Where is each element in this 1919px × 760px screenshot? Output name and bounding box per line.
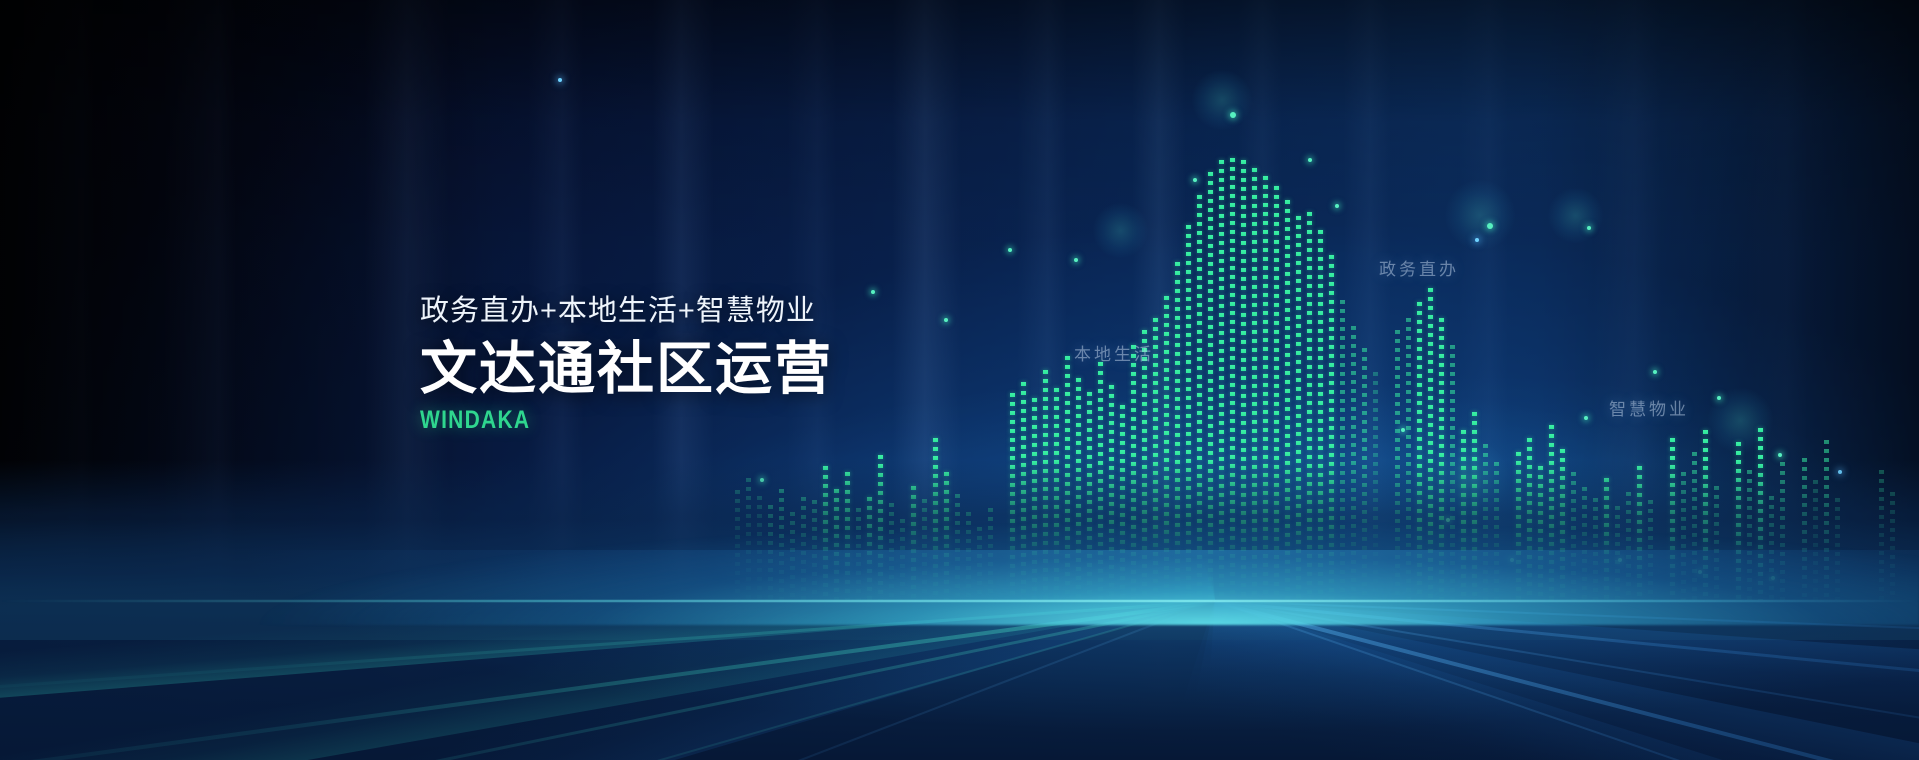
- soft-glow-halo: [1093, 203, 1148, 258]
- glow-particle: [558, 78, 562, 82]
- glow-particle: [944, 318, 948, 322]
- district-label: 本地生活: [1074, 340, 1154, 365]
- glow-particle: [1838, 470, 1842, 474]
- horizon-glow: [0, 495, 1919, 625]
- soft-glow-halo: [1192, 70, 1252, 130]
- hero-subheadline: 政务直办+本地生活+智慧物业: [420, 296, 833, 328]
- soft-glow-halo: [1548, 188, 1603, 243]
- particle-group: [0, 0, 1919, 760]
- glow-particle: [1308, 158, 1312, 162]
- district-label: 政务直办: [1379, 255, 1459, 280]
- sky-glow-overlay: [0, 0, 1919, 760]
- hero-headline: 文达通社区运营: [420, 340, 833, 400]
- glow-particle: [1584, 416, 1588, 420]
- soft-glow-halo: [1445, 180, 1515, 250]
- vertical-light-bands: [0, 0, 1919, 760]
- glow-particle: [1717, 396, 1721, 400]
- glow-particle: [1230, 112, 1236, 118]
- brand-wordmark: WINDAKA: [420, 408, 767, 433]
- glow-particle: [1778, 453, 1782, 457]
- dot-matrix-skyline: [0, 0, 1919, 760]
- glow-particle: [760, 478, 764, 482]
- glow-halo-group: [0, 0, 1919, 760]
- glow-particle: [1587, 226, 1591, 230]
- sky-background: [0, 0, 1919, 760]
- glow-particle: [1335, 204, 1339, 208]
- glow-particle: [871, 290, 875, 294]
- glow-particle: [1475, 238, 1479, 242]
- glow-particle: [1193, 178, 1197, 182]
- soft-glow-halo: [1708, 388, 1773, 453]
- glow-particle: [1487, 223, 1493, 229]
- glow-particle: [1074, 258, 1078, 262]
- glow-particle: [1008, 248, 1012, 252]
- district-label-group: 本地生活政务直办智慧物业: [0, 0, 1919, 760]
- edge-vignette: [0, 0, 1919, 760]
- glow-particle: [1401, 428, 1405, 432]
- glow-particle: [1653, 370, 1657, 374]
- hero-banner: 本地生活政务直办智慧物业 政务直办+本地生活+智慧物业 文达通社区运营 WIND…: [0, 0, 1919, 760]
- horizon-line: [0, 600, 1919, 602]
- hero-copy-block: 政务直办+本地生活+智慧物业 文达通社区运营 WINDAKA: [420, 296, 833, 433]
- district-label: 智慧物业: [1609, 395, 1689, 420]
